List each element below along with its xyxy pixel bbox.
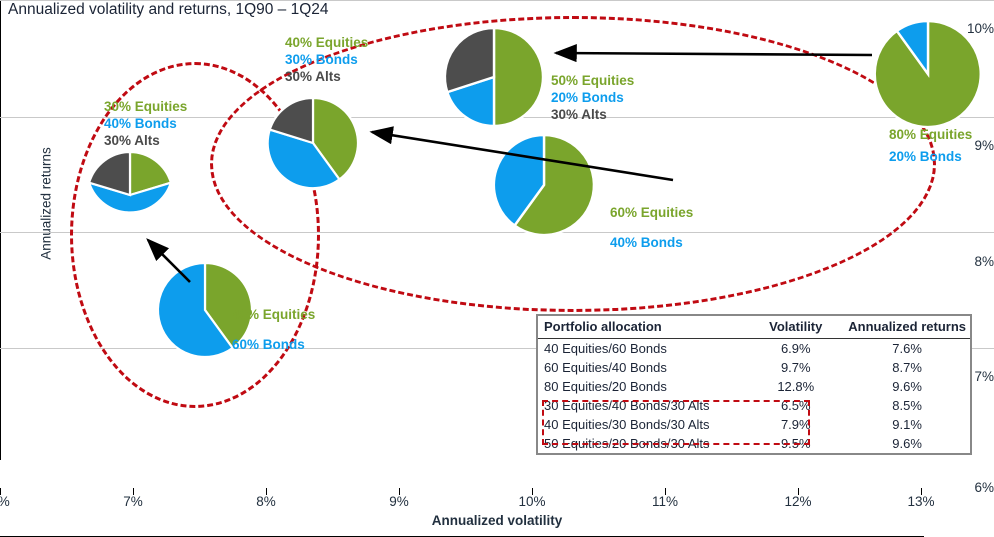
label-bonds: 20% Bonds [889, 146, 972, 168]
cell-returns: 8.7% [842, 358, 970, 377]
label-equities: 60% Equities [610, 198, 693, 228]
table-header: Portfolio allocation Volatility Annualiz… [538, 316, 970, 339]
cell-allocation: 40 Equities/60 Bonds [538, 339, 747, 359]
x-tick-11: 11% [635, 494, 695, 509]
cell-returns: 9.1% [842, 415, 970, 434]
x-tick-12: 12% [768, 494, 828, 509]
table-body: 40 Equities/60 Bonds 6.9% 7.6% 60 Equiti… [538, 339, 970, 454]
pie-60-40-svg [494, 135, 594, 235]
pie-50-20-30-svg [445, 28, 543, 126]
cell-allocation: 80 Equities/20 Bonds [538, 377, 747, 396]
table-header-row: Portfolio allocation Volatility Annualiz… [538, 316, 970, 339]
label-bonds: 20% Bonds [551, 89, 634, 106]
y-axis-title: Annualized returns [39, 124, 54, 284]
col-header-returns: Annualized returns [842, 316, 970, 339]
col-header-volatility: Volatility [747, 316, 842, 339]
cell-returns: 8.5% [842, 396, 970, 415]
table-row: 80 Equities/20 Bonds 12.8% 9.6% [538, 377, 970, 396]
table-row: 50 Equities/20 Bonds/30 Alts 9.5% 9.6% [538, 434, 970, 453]
label-equities: 50% Equities [551, 72, 634, 89]
chart-canvas: Annualized volatility and returns, 1Q90 … [0, 0, 994, 537]
cell-allocation: 40 Equities/30 Bonds/30 Alts [538, 415, 747, 434]
pie-40-30-30-svg [268, 98, 358, 188]
pie-label-40-60: 40% Equities 60% Bonds [232, 300, 315, 360]
pie-50-20-30[interactable] [445, 28, 543, 126]
x-tick-10: 10% [502, 494, 562, 509]
table-row: 40 Equities/60 Bonds 6.9% 7.6% [538, 339, 970, 359]
pie-label-80-20: 80% Equities 20% Bonds [889, 124, 972, 168]
x-tick-6: 6% [0, 494, 30, 509]
pie-30-40-30-svg [87, 152, 173, 238]
y-tick-6: 6% [950, 480, 994, 495]
cell-allocation: 50 Equities/20 Bonds/30 Alts [538, 434, 747, 453]
allocation-table-element: Portfolio allocation Volatility Annualiz… [538, 316, 970, 453]
label-bonds: 40% Bonds [610, 228, 693, 258]
cell-returns: 9.6% [842, 377, 970, 396]
label-alts: 30% Alts [285, 68, 368, 85]
cell-volatility: 12.8% [747, 377, 842, 396]
pie-40-30-30[interactable] [268, 98, 358, 188]
pie-80-20[interactable] [875, 21, 981, 127]
label-bonds: 30% Bonds [285, 51, 368, 68]
pie-label-50-20-30: 50% Equities 20% Bonds 30% Alts [551, 72, 634, 123]
pie-label-40-30-30: 40% Equities 30% Bonds 30% Alts [285, 34, 368, 85]
x-axis-title: Annualized volatility [0, 513, 994, 528]
label-equities: 40% Equities [285, 34, 368, 51]
cell-allocation: 30 Equities/40 Bonds/30 Alts [538, 396, 747, 415]
slice-equities [494, 28, 543, 126]
gridline-10 [0, 0, 994, 1]
pie-label-60-40: 60% Equities 40% Bonds [610, 198, 693, 258]
x-tick-13: 13% [891, 494, 951, 509]
label-equities: 30% Equities [104, 98, 187, 115]
y-axis-line [0, 0, 1, 460]
cell-volatility: 6.9% [747, 339, 842, 359]
col-header-allocation: Portfolio allocation [538, 316, 747, 339]
cell-volatility: 9.5% [747, 434, 842, 453]
pie-80-20-svg [875, 21, 981, 127]
label-equities: 40% Equities [232, 300, 315, 330]
x-tick-7: 7% [103, 494, 163, 509]
cell-volatility: 6.5% [747, 396, 842, 415]
cell-volatility: 9.7% [747, 358, 842, 377]
cell-allocation: 60 Equities/40 Bonds [538, 358, 747, 377]
x-tick-8: 8% [236, 494, 296, 509]
cell-volatility: 7.9% [747, 415, 842, 434]
label-alts: 30% Alts [551, 106, 634, 123]
label-alts: 30% Alts [104, 132, 187, 149]
cell-returns: 7.6% [842, 339, 970, 359]
pie-60-40[interactable] [494, 135, 594, 235]
table-row: 40 Equities/30 Bonds/30 Alts 7.9% 9.1% [538, 415, 970, 434]
chart-title: Annualized volatility and returns, 1Q90 … [8, 1, 329, 19]
pie-label-30-40-30: 30% Equities 40% Bonds 30% Alts [104, 98, 187, 149]
label-bonds: 40% Bonds [104, 115, 187, 132]
table-row: 30 Equities/40 Bonds/30 Alts 6.5% 8.5% [538, 396, 970, 415]
y-tick-8: 8% [950, 254, 994, 269]
table-row: 60 Equities/40 Bonds 9.7% 8.7% [538, 358, 970, 377]
pie-30-40-30[interactable] [87, 152, 173, 238]
label-equities: 80% Equities [889, 124, 972, 146]
portfolio-allocation-table: Portfolio allocation Volatility Annualiz… [536, 314, 972, 455]
label-bonds: 60% Bonds [232, 330, 315, 360]
cell-returns: 9.6% [842, 434, 970, 453]
x-tick-9: 9% [369, 494, 429, 509]
